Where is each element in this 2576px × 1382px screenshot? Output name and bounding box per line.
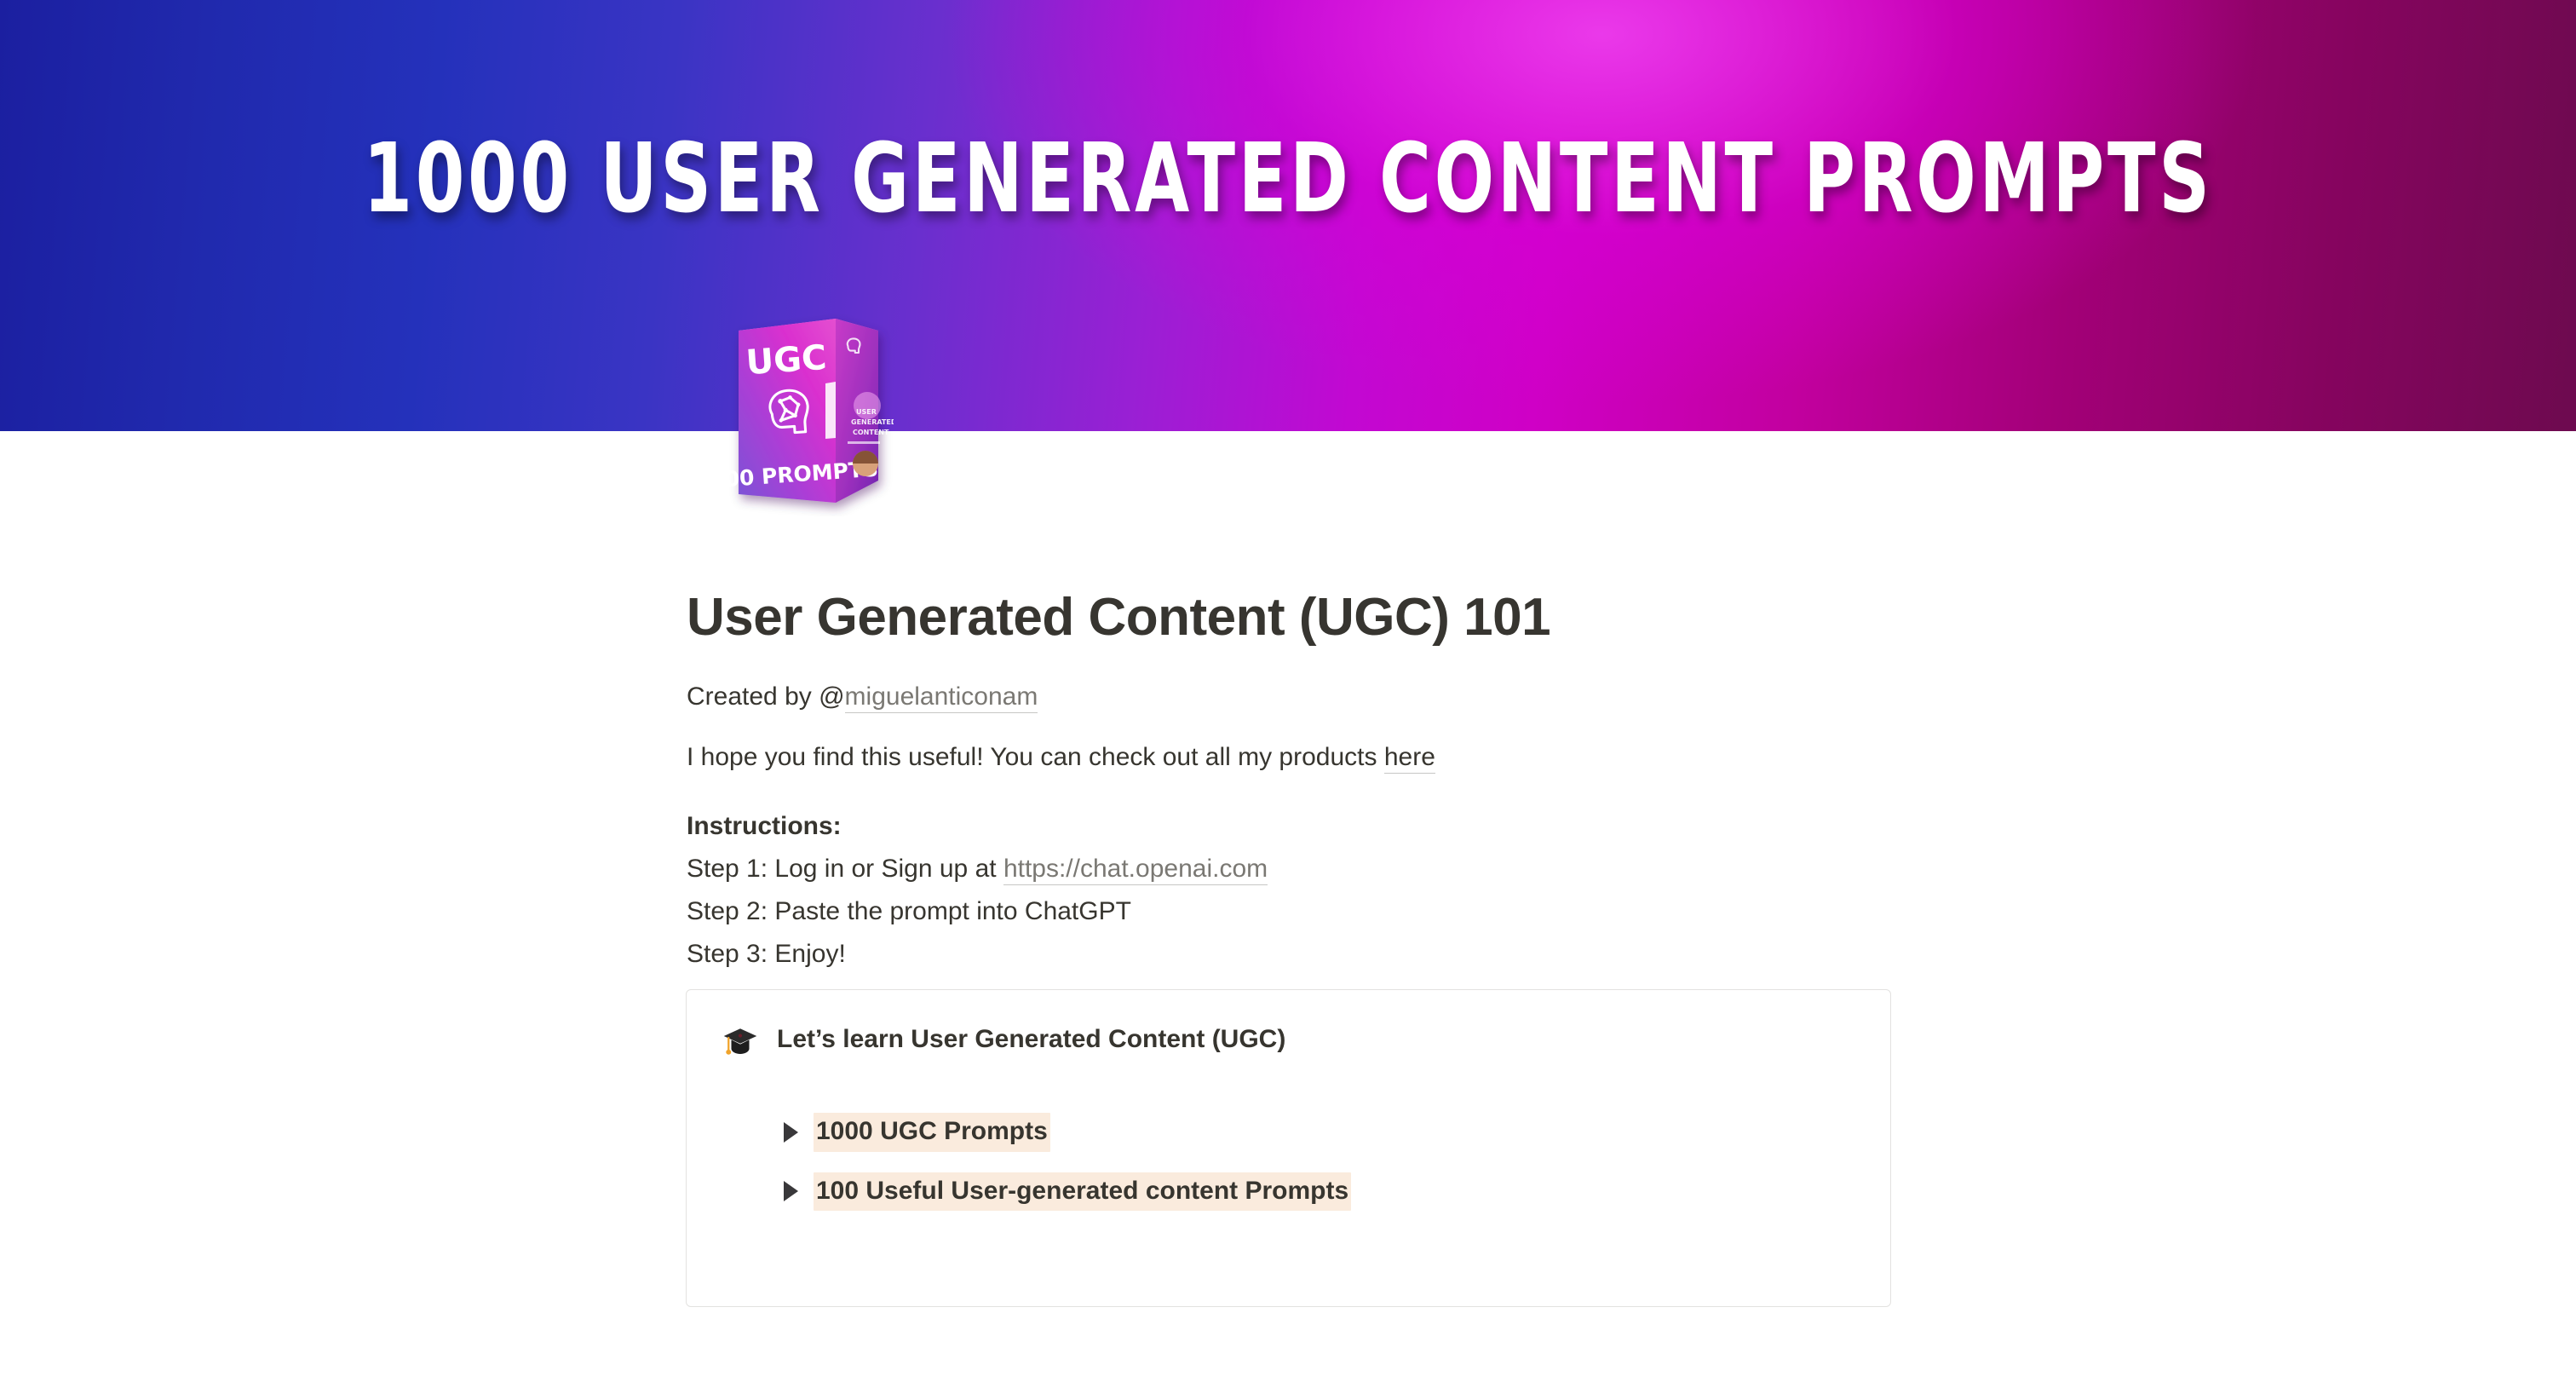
svg-text:CONTENT: CONTENT: [853, 429, 889, 436]
callout-title: Let’s learn User Generated Content (UGC): [777, 1022, 1285, 1057]
author-handle-link[interactable]: miguelanticonam: [845, 682, 1038, 713]
chatgpt-url-link[interactable]: https://chat.openai.com: [1003, 855, 1268, 885]
instructions-heading: Instructions:: [687, 812, 842, 840]
cover-banner-text: 1000 USER GENERATED CONTENT PROMPTS: [335, 131, 2241, 227]
instructions-step-1: Step 1: Log in or Sign up at https://cha…: [687, 848, 1896, 890]
cover-banner: 1000 USER GENERATED CONTENT PROMPTS: [0, 0, 2576, 431]
page-content: User Generated Content (UGC) 101 Created…: [687, 588, 1896, 976]
intro-text: I hope you find this useful! You can che…: [687, 743, 1384, 771]
toggle-item-label[interactable]: 1000 UGC Prompts: [814, 1113, 1050, 1152]
instructions-step-3: Step 3: Enjoy!: [687, 933, 1896, 976]
chevron-right-icon[interactable]: [784, 1181, 798, 1201]
chevron-right-icon[interactable]: [784, 1122, 798, 1143]
toggle-item[interactable]: 1000 UGC Prompts: [782, 1113, 1854, 1152]
callout-header: Let’s learn User Generated Content (UGC): [722, 1022, 1854, 1060]
page-icon-product-box[interactable]: UGC 1000 PROMPTS USER GENERATED CONT: [727, 305, 894, 516]
created-by-line: Created by @miguelanticonam: [687, 677, 1896, 716]
instructions-step-2: Step 2: Paste the prompt into ChatGPT: [687, 890, 1896, 933]
callout-box: Let’s learn User Generated Content (UGC)…: [686, 989, 1891, 1307]
intro-line: I hope you find this useful! You can che…: [687, 738, 1896, 776]
page-title: User Generated Content (UGC) 101: [687, 588, 1896, 647]
step1-prefix: Step 1: Log in or Sign up at: [687, 855, 1003, 883]
toggle-list: 1000 UGC Prompts 100 Useful User-generat…: [722, 1113, 1854, 1211]
graduation-cap-icon: [722, 1024, 758, 1060]
created-by-prefix: Created by @: [687, 682, 845, 711]
instructions-block: Instructions: Step 1: Log in or Sign up …: [687, 805, 1896, 975]
svg-text:USER: USER: [856, 408, 877, 416]
svg-text:UGC: UGC: [745, 338, 828, 383]
notion-page: 1000 USER GENERATED CONTENT PROMPTS: [0, 0, 2576, 1382]
toggle-item[interactable]: 100 Useful User-generated content Prompt…: [782, 1172, 1854, 1212]
toggle-item-label[interactable]: 100 Useful User-generated content Prompt…: [814, 1172, 1351, 1212]
svg-text:GENERATED: GENERATED: [851, 418, 894, 426]
products-here-link[interactable]: here: [1384, 743, 1435, 774]
instructions-heading-row: Instructions:: [687, 805, 1896, 848]
